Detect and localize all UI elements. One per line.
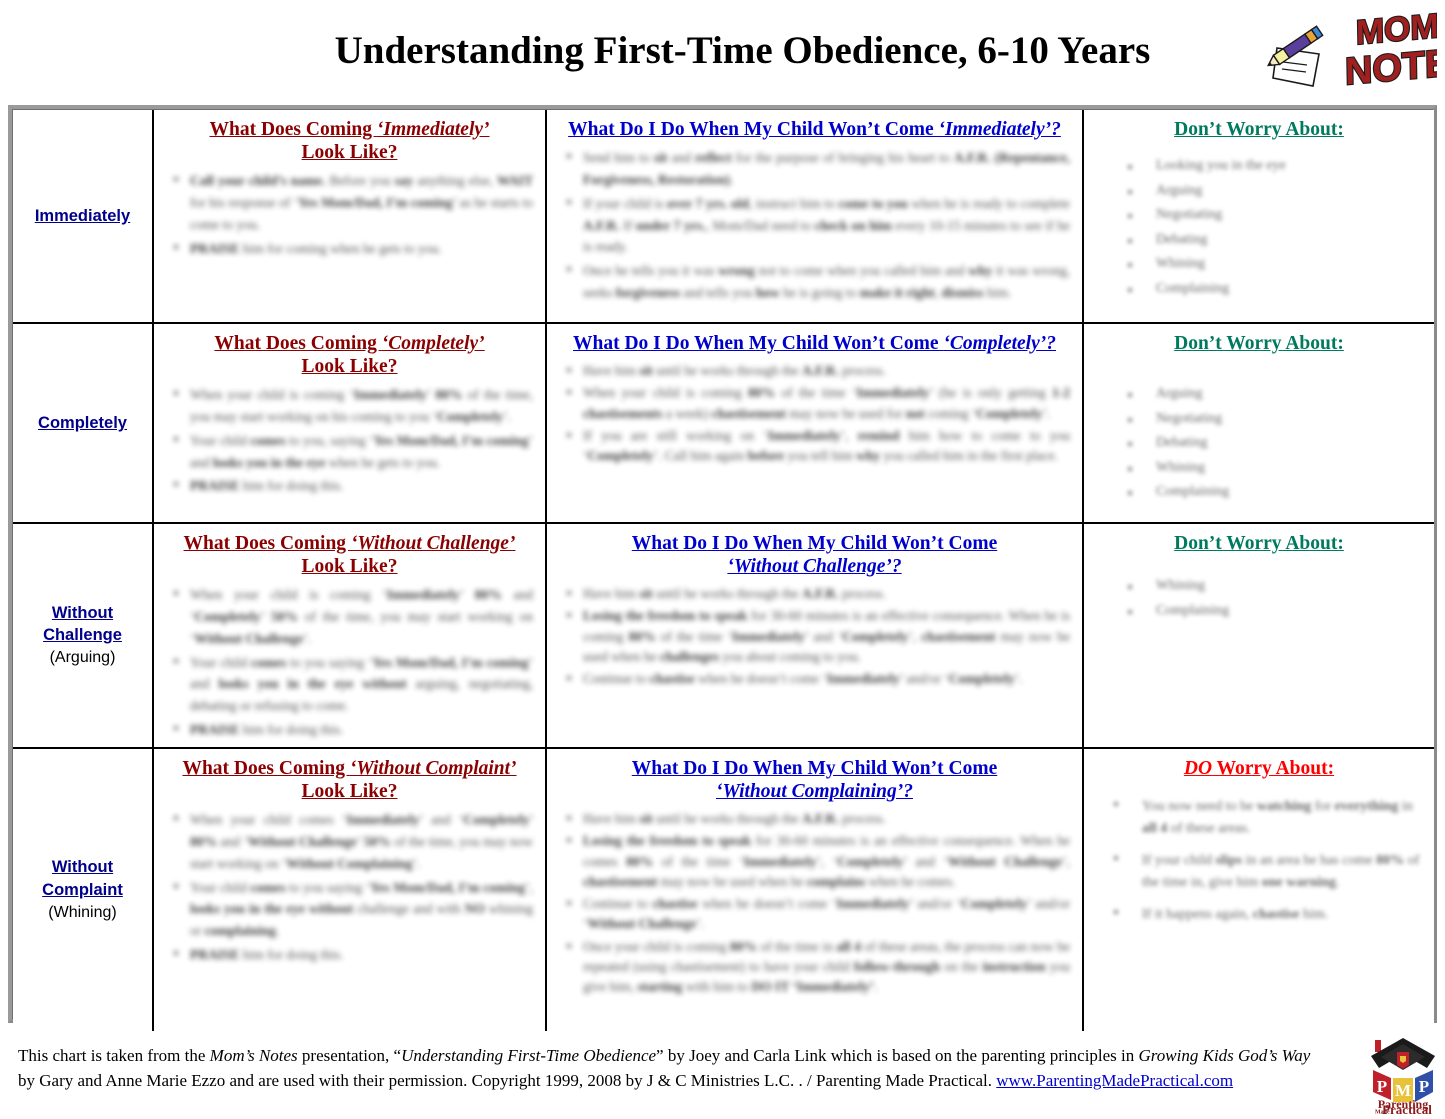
bullet-list-what-do-i-do: Send him to sit and reflect for the purp… (555, 147, 1074, 304)
cell-look-like-without-complaint: What Does Coming ‘Without Complaint’ Loo… (153, 748, 546, 1031)
list-item: Arguing (1128, 184, 1426, 198)
list-item: Have him sit until he works through the … (583, 361, 1070, 381)
page-title: Understanding First-Time Obedience, 6-10… (335, 28, 1151, 73)
cell-what-do-i-do-immediately: What Do I Do When My Child Won’t Come ‘I… (546, 110, 1083, 323)
list-item: PRAISE him for coming when he gets to yo… (190, 238, 533, 260)
parenting-made-practical-link[interactable]: www.ParentingMadePractical.com (996, 1071, 1233, 1090)
column-header-what-do-i-do: What Do I Do When My Child Won’t Come ‘W… (555, 757, 1074, 803)
cell-look-like-completely: What Does Coming ‘Completely’ Look Like?… (153, 323, 546, 523)
obedience-table: Immediately What Does Coming ‘Immediatel… (13, 110, 1434, 1031)
column-header-dont-worry: Don’t Worry About: (1092, 118, 1426, 141)
list-item: Complaining (1128, 485, 1426, 499)
list-item: Losing the freedom to speak for 30-60 mi… (583, 831, 1070, 892)
list-item: Debating (1128, 436, 1426, 450)
row-label-text: Without Challenge (43, 604, 122, 644)
list-item: Arguing (1128, 387, 1426, 401)
cell-do-worry-without-complaint: DO Worry About: You now need to be watch… (1083, 748, 1434, 1031)
footer-attribution: This chart is taken from the Mom’s Notes… (18, 1044, 1373, 1093)
list-item: PRAISE him for doing this. (190, 944, 533, 966)
svg-text:P: P (1377, 1077, 1387, 1096)
bullet-list-what-do-i-do: Have him sit until he works through the … (555, 584, 1074, 689)
worry-list: WhiningComplaining (1092, 561, 1426, 618)
row-label-sublabel: (Whining) (13, 902, 152, 924)
column-header-look-like: What Does Coming ‘Immediately’ Look Like… (162, 118, 537, 164)
list-item: Your child comes to you saying ‘Yes Mom/… (190, 877, 533, 943)
list-item: Negotiating (1128, 208, 1426, 222)
page-header: Understanding First-Time Obedience, 6-10… (0, 0, 1445, 100)
column-header-do-worry: DO Worry About: (1092, 757, 1426, 780)
column-header-what-do-i-do: What Do I Do When My Child Won’t Come ‘W… (555, 532, 1074, 578)
list-item: Have him sit until he works through the … (583, 809, 1070, 829)
column-header-look-like: What Does Coming ‘Without Challenge’ Loo… (162, 532, 537, 578)
cell-look-like-without-challenge: What Does Coming ‘Without Challenge’ Loo… (153, 523, 546, 748)
cell-what-do-i-do-without-complaint: What Do I Do When My Child Won’t Come ‘W… (546, 748, 1083, 1031)
list-item: When your child is coming ‘Immediately’ … (190, 584, 533, 650)
list-item: You now need to be watching for everythi… (1114, 796, 1426, 841)
list-item: If your child is over 7 yrs. old, instru… (583, 193, 1070, 259)
parenting-made-practical-logo: P M P Parenting Made Practical (1367, 1034, 1439, 1114)
list-item: Debating (1128, 233, 1426, 247)
list-item: Your child comes to you saying ‘Yes Mom/… (190, 652, 533, 718)
column-header-dont-worry: Don’t Worry About: (1092, 332, 1426, 355)
worry-list: ArguingNegotiatingDebatingWhiningComplai… (1092, 361, 1426, 499)
row-label-text: Completely (38, 414, 127, 432)
bullet-list-look-like: When your child is coming ‘Immediately’ … (162, 384, 537, 497)
list-item: Complaining (1128, 604, 1426, 618)
column-header-what-do-i-do: What Do I Do When My Child Won’t Come ‘I… (555, 118, 1074, 141)
footer: This chart is taken from the Mom’s Notes… (0, 1032, 1445, 1115)
obedience-chart: Immediately What Does Coming ‘Immediatel… (8, 105, 1437, 1023)
cell-dont-worry-completely: Don’t Worry About: ArguingNegotiatingDeb… (1083, 323, 1434, 523)
list-item: PRAISE him for doing this. (190, 475, 533, 497)
table-row: Completely What Does Coming ‘Completely’… (13, 323, 1434, 523)
list-item: If you are still working on ‘Immediately… (583, 426, 1070, 467)
column-header-what-do-i-do: What Do I Do When My Child Won’t Come ‘C… (555, 332, 1074, 355)
moms-notes-logo: MOM'S NOTES (1265, 2, 1437, 98)
list-item: Whining (1128, 461, 1426, 475)
list-item: When your child is coming ‘Immediately’ … (190, 384, 533, 428)
cell-dont-worry-immediately: Don’t Worry About: Looking you in the ey… (1083, 110, 1434, 323)
list-item: Negotiating (1128, 412, 1426, 426)
table-row: Immediately What Does Coming ‘Immediatel… (13, 110, 1434, 323)
list-item: Continue to chastise when he doesn’t com… (583, 669, 1070, 689)
svg-text:Practical: Practical (1382, 1102, 1432, 1114)
list-item: If your child slips in an area he has co… (1114, 850, 1426, 895)
list-item: When your child is coming 80% of the tim… (583, 383, 1070, 424)
row-label-sublabel: (Arguing) (13, 647, 152, 669)
cell-dont-worry-without-challenge: Don’t Worry About: WhiningComplaining (1083, 523, 1434, 748)
column-header-look-like: What Does Coming ‘Without Complaint’ Loo… (162, 757, 537, 803)
svg-text:P: P (1419, 1077, 1429, 1096)
column-header-look-like: What Does Coming ‘Completely’ Look Like? (162, 332, 537, 378)
bullet-list-look-like: Call your child’s name. Before you say a… (162, 170, 537, 259)
list-item: Once your child is coming 80% of the tim… (583, 937, 1070, 998)
row-label-without-complaint: Without Complaint (Whining) (13, 748, 153, 1031)
worry-list: Looking you in the eyeArguingNegotiating… (1092, 147, 1426, 296)
worry-list: You now need to be watching for everythi… (1092, 786, 1426, 926)
cell-look-like-immediately: What Does Coming ‘Immediately’ Look Like… (153, 110, 546, 323)
list-item: Send him to sit and reflect for the purp… (583, 147, 1070, 191)
row-label-without-challenge: Without Challenge (Arguing) (13, 523, 153, 748)
cell-what-do-i-do-completely: What Do I Do When My Child Won’t Come ‘C… (546, 323, 1083, 523)
bullet-list-what-do-i-do: Have him sit until he works through the … (555, 361, 1074, 466)
list-item: Whining (1128, 579, 1426, 593)
bullet-list-look-like: When your child comes ‘Immediately’ and … (162, 809, 537, 966)
list-item: When your child comes ‘Immediately’ and … (190, 809, 533, 875)
row-label-completely: Completely (13, 323, 153, 523)
list-item: Complaining (1128, 282, 1426, 296)
list-item: If it happens again, chastise him. (1114, 904, 1426, 926)
row-label-text: Immediately (35, 207, 130, 225)
bullet-list-what-do-i-do: Have him sit until he works through the … (555, 809, 1074, 997)
table-row: Without Challenge (Arguing) What Does Co… (13, 523, 1434, 748)
list-item: Looking you in the eye (1128, 159, 1426, 173)
list-item: PRAISE him for doing this. (190, 719, 533, 741)
cell-what-do-i-do-without-challenge: What Do I Do When My Child Won’t Come ‘W… (546, 523, 1083, 748)
column-header-dont-worry: Don’t Worry About: (1092, 532, 1426, 555)
list-item: Losing the freedom to speak for 30-60 mi… (583, 606, 1070, 667)
row-label-text: Without Complaint (42, 858, 123, 898)
list-item: Call your child’s name. Before you say a… (190, 170, 533, 236)
table-row: Without Complaint (Whining) What Does Co… (13, 748, 1434, 1031)
row-label-immediately: Immediately (13, 110, 153, 323)
list-item: Have him sit until he works through the … (583, 584, 1070, 604)
list-item: Once he tells you it was wrong not to co… (583, 260, 1070, 304)
list-item: Continue to chastise when he doesn’t com… (583, 894, 1070, 935)
bullet-list-look-like: When your child is coming ‘Immediately’ … (162, 584, 537, 741)
list-item: Your child comes to you, saying ‘Yes Mom… (190, 430, 533, 474)
list-item: Whining (1128, 257, 1426, 271)
